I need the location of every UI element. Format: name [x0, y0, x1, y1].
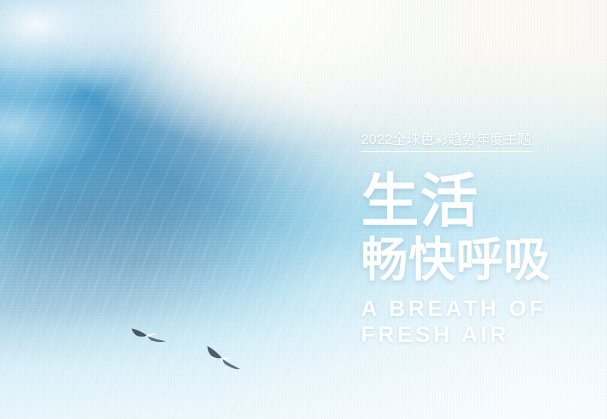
english-tagline-line-2: FRESH AIR	[361, 322, 601, 348]
page-title-main: 生活	[361, 173, 601, 231]
swallow-icon-right	[199, 344, 246, 375]
poster-canvas: 2022全球色彩趋势年度主题 生活 畅快呼吸 A BREATH OF FRESH…	[0, 0, 607, 419]
eyebrow-subtitle: 2022全球色彩趋势年度主题	[361, 133, 532, 152]
english-tagline-line-1: A BREATH OF	[361, 296, 601, 322]
english-tagline: A BREATH OF FRESH AIR	[361, 296, 601, 349]
page-title-sub: 畅快呼吸	[361, 236, 601, 283]
headline-block: 2022全球色彩趋势年度主题 生活 畅快呼吸 A BREATH OF FRESH…	[361, 131, 601, 348]
swallow-icon-left	[127, 321, 170, 350]
